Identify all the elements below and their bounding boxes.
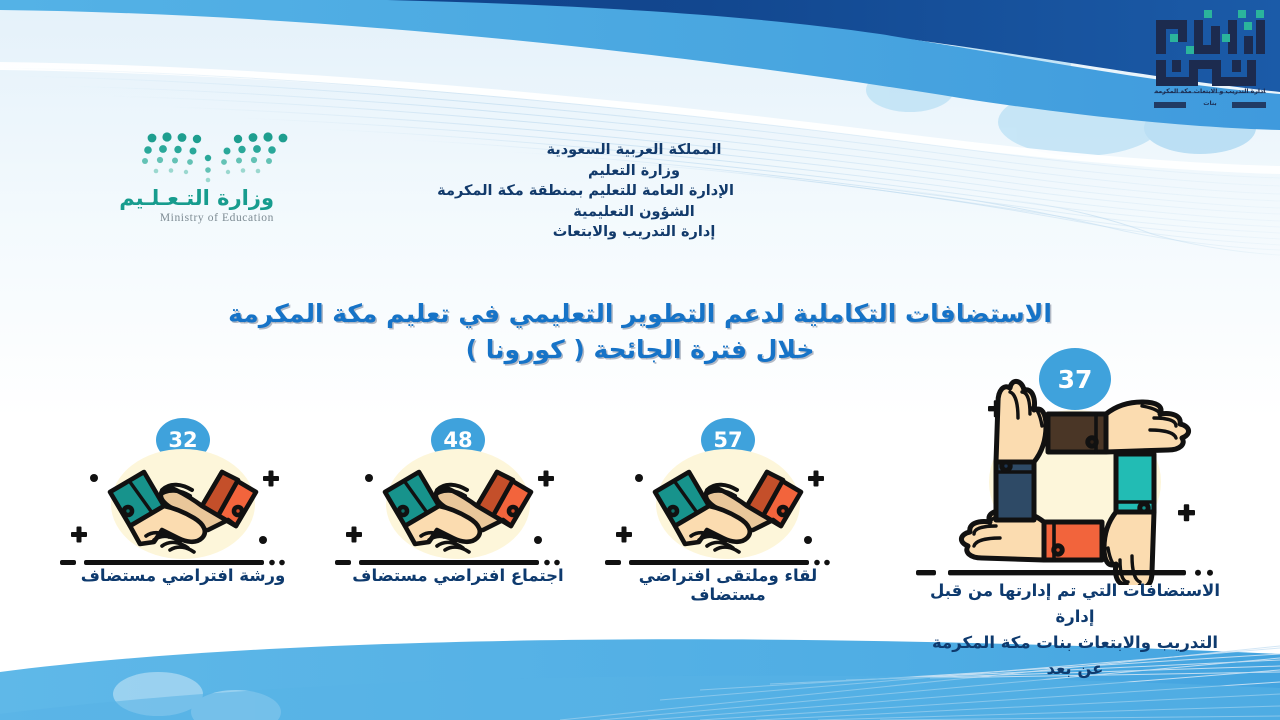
moe-english-name: Ministry of Education <box>160 212 274 224</box>
header-text-block: المملكة العربية السعودية وزارة التعليم ا… <box>534 140 734 243</box>
four-hands-teamwork-icon <box>910 370 1240 585</box>
moe-dots-emblem <box>122 128 298 188</box>
infographic-slide: وزارة التـعـلـيم Ministry of Education <box>0 0 1280 720</box>
handshake-icon <box>58 432 308 572</box>
stat-card-workshops: 32 <box>58 418 308 593</box>
baseline <box>60 560 285 566</box>
header-line-1: المملكة العربية السعودية <box>534 140 734 161</box>
stat-card-label: ورشة افتراضي مستضاف <box>58 566 308 585</box>
header-line-4: الشؤون التعليمية <box>534 202 734 223</box>
stat-card-label-line-2: التدريب والابتعاث بنات مكة المكرمة <box>910 630 1240 656</box>
stat-card-label: الاستضافات التي تم إدارتها من قبل إدارة … <box>910 578 1240 682</box>
stat-card-gatherings: 57 <box>603 418 853 593</box>
stat-card-managed-hostings: 37 <box>910 348 1240 668</box>
main-title-line-1: الاستضافات التكاملية لدعم التطوير التعلي… <box>0 296 1280 332</box>
stat-card-label-line-1: الاستضافات التي تم إدارتها من قبل إدارة <box>910 578 1240 630</box>
makkah-training-department-logo: ادارة التدريب و الابتعاث مكة المكرمة بنا… <box>1148 6 1272 110</box>
baseline <box>335 560 560 566</box>
ministry-of-education-logo: وزارة التـعـلـيم Ministry of Education <box>122 128 298 234</box>
header-line-2: وزارة التعليم <box>534 161 734 182</box>
moe-arabic-name: وزارة التـعـلـيم <box>119 186 274 210</box>
handshake-icon <box>333 432 583 572</box>
header-line-3: الإدارة العامة للتعليم بمنطقة مكة المكرم… <box>534 181 734 202</box>
baseline <box>605 560 830 566</box>
baseline <box>916 570 1213 576</box>
makkah-logo-caption: ادارة التدريب و الابتعاث مكة المكرمة <box>1148 88 1272 95</box>
stat-card-label: اجتماع افتراضي مستضاف <box>333 566 583 585</box>
stat-card-label: لقاء وملتقى افتراضي مستضاف <box>603 566 853 604</box>
stat-card-meetings: 48 <box>333 418 583 593</box>
header-line-5: إدارة التدريب والابتعاث <box>534 222 734 243</box>
makkah-logo-subcaption: بنات <box>1148 100 1272 107</box>
stat-card-label-line-3: عن بعد <box>910 656 1240 682</box>
handshake-icon <box>603 432 853 572</box>
